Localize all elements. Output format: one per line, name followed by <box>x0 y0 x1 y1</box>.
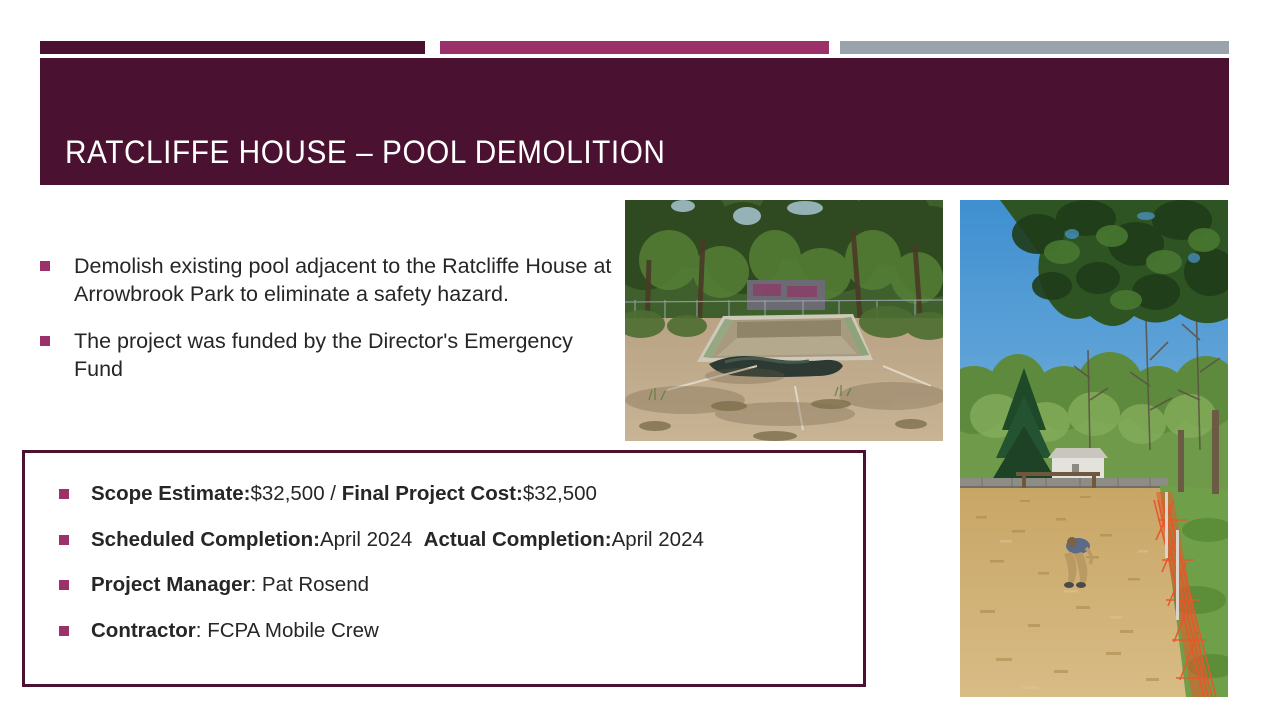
pool-before-photo <box>625 200 943 441</box>
project-manager-value: : Pat Rosend <box>251 573 370 596</box>
list-item-manager: Project Manager: Pat Rosend <box>57 572 863 599</box>
list-item: The project was funded by the Director's… <box>36 327 616 384</box>
list-item-contractor: Contractor: FCPA Mobile Crew <box>57 618 863 645</box>
actual-completion-label: Actual Completion: <box>424 528 612 551</box>
cost-separator: / <box>325 482 342 505</box>
slide: RATCLIFFE HOUSE – POOL DEMOLITION Demoli… <box>0 0 1271 714</box>
project-details-box: Scope Estimate:$32,500 / Final Project C… <box>22 450 866 687</box>
project-manager-label: Project Manager <box>91 573 251 596</box>
list-item-cost: Scope Estimate:$32,500 / Final Project C… <box>57 481 863 508</box>
title-band: RATCLIFFE HOUSE – POOL DEMOLITION <box>40 58 1229 185</box>
site-after-illustration <box>960 200 1228 697</box>
final-cost-value: $32,500 <box>523 482 597 505</box>
intro-bullet-list: Demolish existing pool adjacent to the R… <box>36 252 616 402</box>
bullet-square-icon <box>40 336 50 346</box>
scheduled-completion-value: April 2024 <box>320 528 412 551</box>
bullet-square-icon <box>40 261 50 271</box>
scheduled-completion-label: Scheduled Completion: <box>91 528 320 551</box>
accent-bar-dark <box>40 41 425 54</box>
final-cost-label: Final Project Cost: <box>342 482 523 505</box>
slide-title: RATCLIFFE HOUSE – POOL DEMOLITION <box>65 134 665 171</box>
list-item: Demolish existing pool adjacent to the R… <box>36 252 616 309</box>
actual-completion-value: April 2024 <box>612 528 704 551</box>
bullet-square-icon <box>59 580 69 590</box>
project-details-list: Scope Estimate:$32,500 / Final Project C… <box>25 453 863 645</box>
scope-estimate-value: $32,500 <box>251 482 325 505</box>
bullet-square-icon <box>59 626 69 636</box>
bullet-square-icon <box>59 489 69 499</box>
intro-bullet-text: The project was funded by the Director's… <box>74 329 573 381</box>
intro-bullet-text: Demolish existing pool adjacent to the R… <box>74 254 611 306</box>
contractor-value: : FCPA Mobile Crew <box>196 619 379 642</box>
accent-bar-magenta <box>440 41 829 54</box>
pool-before-illustration <box>625 200 943 441</box>
list-item-completion: Scheduled Completion:April 2024 Actual C… <box>57 527 863 554</box>
scope-estimate-label: Scope Estimate: <box>91 482 251 505</box>
site-after-photo <box>960 200 1228 697</box>
contractor-label: Contractor <box>91 619 196 642</box>
bullet-square-icon <box>59 535 69 545</box>
accent-bar-gray <box>840 41 1229 54</box>
